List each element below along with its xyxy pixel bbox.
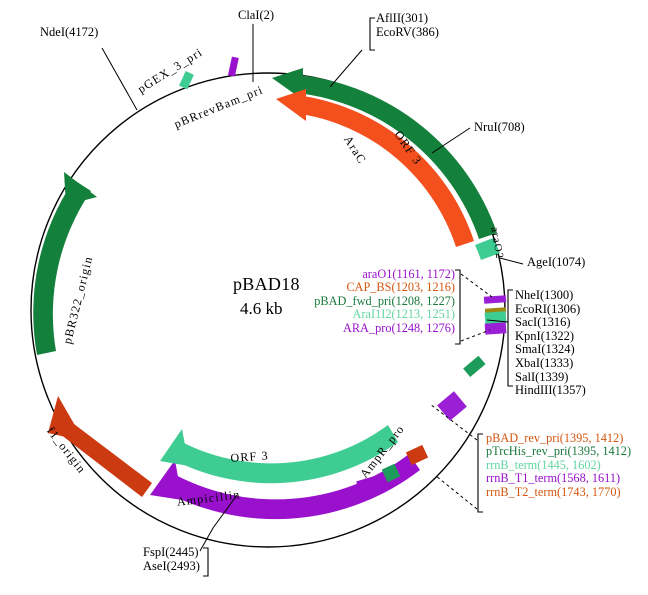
annotation-ara-pro: ARA_pro(1248, 1276)	[195, 322, 455, 335]
arc-label-orf3-bottom: ORF 3	[230, 448, 269, 466]
site-fspi: FspI(2445)	[143, 546, 200, 560]
site-ecori: EcoRI(1306)	[515, 303, 586, 317]
site-nhei: NheI(1300)	[515, 289, 586, 303]
site-group-fspi-asei: FspI(2445) AseI(2493)	[143, 546, 200, 573]
mcs-site-list: NheI(1300) EcoRI(1306) SacI(1316) KpnI(1…	[515, 289, 586, 398]
annotation-pbad-rev-pri: pBAD_rev_pri(1395, 1412)	[486, 432, 631, 445]
site-asei: AseI(2493)	[143, 560, 200, 574]
annotation-arai1i2: AraI1I2(1213, 1251)	[195, 308, 455, 321]
mcs-feature-blocks	[484, 295, 507, 334]
site-ndei: NdeI(4172)	[40, 26, 98, 39]
site-sali: SalI(1339)	[515, 371, 586, 385]
site-hindiii: HindIII(1357)	[515, 384, 586, 398]
annotation-block-upper: araO1(1161, 1172) CAP_BS(1203, 1216) pBA…	[195, 268, 455, 335]
site-ecorv: EcoRV(386)	[376, 26, 439, 40]
annotation-pbad-fwd-pri: pBAD_fwd_pri(1208, 1227)	[195, 295, 455, 308]
site-nrui: NruI(708)	[474, 121, 525, 134]
site-smai: SmaI(1324)	[515, 343, 586, 357]
site-agei: AgeI(1074)	[527, 256, 585, 269]
annotation-rrnb-t2-term: rrnB_T2_term(1743, 1770)	[486, 486, 631, 499]
annotation-arao1: araO1(1161, 1172)	[195, 268, 455, 281]
annotation-block-lower: pBAD_rev_pri(1395, 1412) pTrcHis_rev_pri…	[486, 432, 631, 499]
site-kpni: KpnI(1322)	[515, 330, 586, 344]
site-aflii: AflII(301)	[376, 12, 439, 26]
annotation-cap-bs: CAP_BS(1203, 1216)	[195, 281, 455, 294]
annotation-rrnb-term: rrnB_term(1445, 1602)	[486, 459, 631, 472]
site-saci: SacI(1316)	[515, 316, 586, 330]
site-group-aflii-ecorv: AflII(301) EcoRV(386)	[376, 12, 439, 39]
annotation-ptrchis-rev-pri: pTrcHis_rev_pri(1395, 1412)	[486, 445, 631, 458]
site-clai: ClaI(2)	[238, 9, 274, 22]
site-xbai: XbaI(1333)	[515, 357, 586, 371]
annotation-rrnb-t1-term: rrnB_T1_term(1568, 1611)	[486, 472, 631, 485]
